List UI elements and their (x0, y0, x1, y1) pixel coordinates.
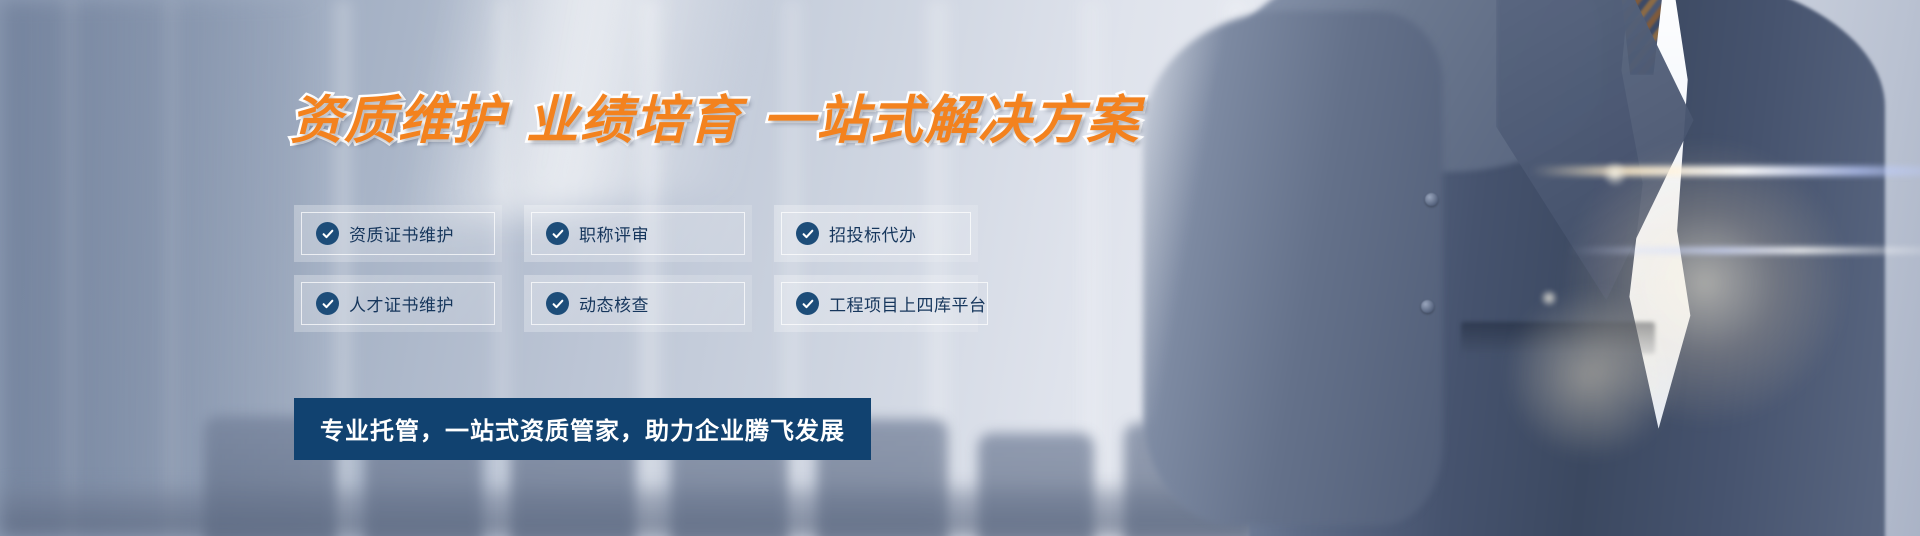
feature-inner-frame: 资质证书维护 (301, 212, 495, 255)
lens-flare-dot-a (1602, 161, 1628, 187)
feature-item-project-four-database-platform[interactable]: 工程项目上四库平台 (774, 275, 978, 332)
check-circle-icon (546, 222, 569, 245)
feature-label: 招投标代办 (829, 221, 917, 246)
feature-inner-frame: 职称评审 (531, 212, 745, 255)
feature-item-talent-certificate-maintenance[interactable]: 人才证书维护 (294, 275, 502, 332)
feature-label: 工程项目上四库平台 (829, 291, 987, 316)
check-circle-icon (546, 292, 569, 315)
feature-label: 资质证书维护 (349, 221, 454, 246)
feature-list: 资质证书维护 职称评审 招投标代办 (294, 205, 978, 332)
check-circle-icon (316, 292, 339, 315)
banner-headline: 资质维护 业绩培育 一站式解决方案 (290, 78, 1140, 153)
hero-banner: 资质维护 业绩培育 一站式解决方案 资质证书维护 职称评审 (0, 0, 1920, 536)
check-circle-icon (796, 222, 819, 245)
check-circle-icon (316, 222, 339, 245)
feature-label: 职称评审 (579, 221, 649, 246)
slogan-banner: 专业托管，一站式资质管家，助力企业腾飞发展 (294, 398, 871, 460)
lens-flare-streak-secondary (1567, 247, 1920, 254)
feature-label: 动态核查 (579, 291, 649, 316)
check-circle-icon (796, 292, 819, 315)
banner-content: 资质维护 业绩培育 一站式解决方案 资质证书维护 职称评审 (0, 0, 1200, 536)
slogan-text: 专业托管，一站式资质管家，助力企业腾飞发展 (320, 417, 845, 445)
lens-flare-glow-secondary (1496, 279, 1686, 469)
feature-item-qualification-certificate-maintenance[interactable]: 资质证书维护 (294, 205, 502, 262)
feature-item-title-evaluation[interactable]: 职称评审 (524, 205, 752, 262)
feature-inner-frame: 招投标代办 (781, 212, 971, 255)
feature-inner-frame: 工程项目上四库平台 (781, 282, 988, 325)
lens-flare-streak (1531, 166, 1920, 176)
feature-label: 人才证书维护 (349, 291, 454, 316)
feature-item-bidding-agency[interactable]: 招投标代办 (774, 205, 978, 262)
feature-inner-frame: 动态核查 (531, 282, 745, 325)
feature-item-dynamic-verification[interactable]: 动态核查 (524, 275, 752, 332)
feature-inner-frame: 人才证书维护 (301, 282, 495, 325)
